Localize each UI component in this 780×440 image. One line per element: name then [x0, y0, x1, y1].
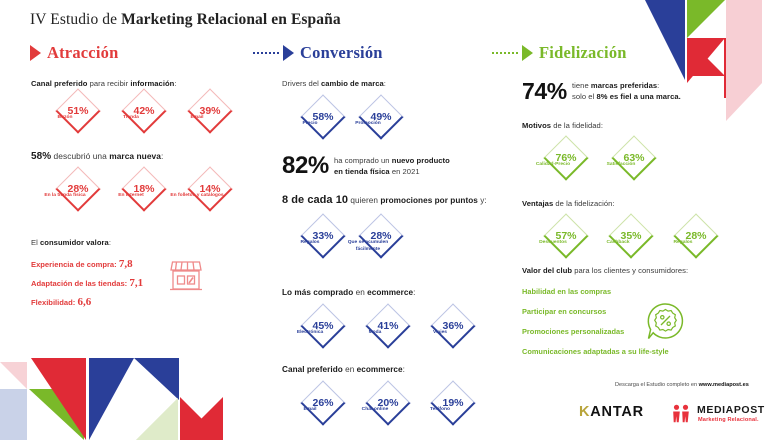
stat-diamond: 14% En folletos y catálogos [187, 166, 233, 212]
loyalty-stat1-number: 74% [522, 78, 567, 105]
t: : [109, 238, 111, 247]
diamond-caption: Regalos [657, 240, 709, 247]
section-header-loyalty: Fidelización [522, 43, 627, 63]
rating-row: Flexibilidad: 6,6 [31, 296, 91, 308]
deco-blue-bottom-lower [89, 358, 134, 440]
diamond-caption: Regalos [284, 240, 336, 247]
section-label-loyalty: Fidelización [539, 43, 627, 63]
stat-diamond: 39% Email [187, 88, 233, 134]
mediapost-name: MEDIAPOST [697, 404, 765, 416]
section-header-attraction: Atracción [30, 43, 118, 63]
diamond-value: 41% [365, 303, 411, 349]
rating-label: Experiencia de compra: [31, 260, 117, 269]
stat-diamond: 28% Que se acumulen fácilmente [358, 213, 404, 259]
diamond-value: 42% [121, 88, 167, 134]
diamond-caption: Viajes [414, 330, 466, 337]
t: Ventajas [522, 199, 553, 208]
footer-download-text: Descarga el Estudio completo en www.medi… [615, 382, 749, 388]
t: : [403, 365, 405, 374]
diamond-value: 28% [673, 213, 719, 259]
diamond-value: 39% [187, 88, 233, 134]
conversion-block1-text: Drivers del cambio de marca: [282, 79, 386, 88]
storefront-icon [166, 258, 206, 296]
t: Lo más comprado [282, 288, 353, 297]
stat-diamond: 45% Electrónica [300, 303, 346, 349]
diamond-value: 76% [543, 135, 589, 181]
stat-diamond: 33% Regalos [300, 213, 346, 259]
rating-row: Experiencia de compra: 7,8 [31, 258, 133, 270]
diamond-caption: Email [171, 115, 223, 122]
deco-pink-triangle [726, 83, 762, 121]
diamond-value: 45% [300, 303, 346, 349]
rating-score: 7,8 [119, 258, 133, 270]
diamond-value: 49% [358, 94, 404, 140]
t: : [174, 79, 176, 88]
page-title-bold: Marketing Relacional en España [121, 11, 341, 28]
t: en tienda física [334, 167, 390, 176]
conversion-block2-text: Lo más comprado en ecommerce: [282, 288, 415, 297]
conversion-stat2-text: 8 de cada 10 quieren promociones por pun… [282, 194, 487, 206]
diamond-caption: Satisfacción [593, 162, 649, 169]
conversion-stat1-number: 82% [282, 152, 329, 180]
diamond-caption: Cashback [592, 240, 644, 247]
stat-diamond: 28% Regalos [673, 213, 719, 259]
t: para recibir [87, 79, 130, 88]
t: Canal preferido [31, 79, 87, 88]
diamond-caption: Teléfono [414, 407, 466, 414]
t: : [161, 151, 163, 161]
t: El [31, 238, 40, 247]
diamond-caption: En la tienda física [32, 193, 98, 200]
diamond-caption: Tienda [105, 115, 157, 122]
t: quieren [348, 196, 380, 205]
stat-diamond: 58% Precio [300, 94, 346, 140]
t: y: [478, 196, 487, 205]
t: en [353, 288, 367, 297]
t: en [343, 365, 357, 374]
dots-connector-2 [492, 52, 518, 54]
t: solo el [572, 92, 596, 101]
t: Descarga el Estudio completo en [615, 382, 699, 388]
section-label-conversion: Conversión [300, 43, 383, 63]
stat-diamond: 49% Promoción [358, 94, 404, 140]
t: 8% es fiel a una marca. [596, 92, 680, 101]
loyalty-block3-text: Valor del club para los clientes y consu… [522, 266, 688, 275]
mediapost-tagline: Marketing Relacional. [698, 417, 759, 423]
diamond-caption: En Internet [98, 193, 164, 200]
t: Motivos [522, 121, 551, 130]
conversion-block3-text: Canal preferido en ecommerce: [282, 365, 405, 374]
percent-bubble-icon [643, 298, 689, 344]
dots-connector-1 [253, 52, 279, 54]
loyalty-stat1-line2: solo el 8% es fiel a una marca. [572, 92, 681, 101]
loyalty-bullet: Participar en concursos [522, 307, 606, 316]
loyalty-bullet: Comunicaciones adaptadas a su life-style [522, 347, 669, 356]
t: de la fidelización: [553, 199, 614, 208]
t: : [413, 288, 415, 297]
play-arrow-icon [522, 45, 533, 61]
diamond-caption: Email [284, 407, 336, 414]
t: cambio de marca [321, 79, 384, 88]
diamond-value: 26% [300, 380, 346, 426]
deco-red-triangle-lower [687, 38, 725, 83]
t: información [130, 79, 174, 88]
play-arrow-icon [283, 45, 294, 61]
deco-red-band [724, 38, 726, 98]
kantar-logo-rest: ANTAR [590, 404, 644, 420]
deco-blue-bottom-right [134, 358, 179, 400]
stat-diamond: 41% Moda [365, 303, 411, 349]
attraction-block2-text: 58% descubrió una marca nueva: [31, 151, 163, 162]
deco-blue-triangle [645, 0, 685, 80]
t: consumidor valora [40, 238, 109, 247]
stat-diamond: 57% Descuentos [543, 213, 589, 259]
t: tiene [572, 81, 591, 90]
stat-diamond: 20% Chat online [365, 380, 411, 426]
conversion-stat1-line1: ha comprado un nuevo producto [334, 156, 450, 165]
deco-pale-pink-triangle [0, 362, 27, 389]
diamond-caption: En folletos y catálogos [167, 193, 227, 200]
diamond-caption: Moda [349, 330, 401, 337]
diamond-caption: Descuentos [527, 240, 579, 247]
kantar-logo-k: K [579, 404, 590, 420]
t: Drivers del [282, 79, 321, 88]
stat-diamond: 36% Viajes [430, 303, 476, 349]
t: nuevo producto [392, 156, 450, 165]
stat-diamond: 51% Buzón [55, 88, 101, 134]
stat-diamond: 26% Email [300, 380, 346, 426]
rating-label: Adaptación de las tiendas: [31, 279, 127, 288]
diamond-caption: Buzón [39, 115, 91, 122]
stat-diamond: 35% Cashback [608, 213, 654, 259]
kantar-logo: KANTAR [579, 404, 644, 420]
t: 8 de cada 10 [282, 194, 348, 206]
diamond-value: 20% [365, 380, 411, 426]
diamond-value: 19% [430, 380, 476, 426]
diamond-value: 33% [300, 213, 346, 259]
t: Valor del club [522, 266, 572, 275]
stat-diamond: 42% Tienda [121, 88, 167, 134]
loyalty-block1-text: Motivos de la fidelidad: [522, 121, 603, 130]
stat-diamond: 18% En Internet [121, 166, 167, 212]
diamond-value: 57% [543, 213, 589, 259]
loyalty-stat1-line1: tiene marcas preferidas: [572, 81, 659, 90]
diamond-value: 35% [608, 213, 654, 259]
diamond-value: 18% [121, 166, 167, 212]
t: 58% [31, 151, 51, 162]
section-header-conversion: Conversión [283, 43, 383, 63]
stat-diamond: 19% Teléfono [430, 380, 476, 426]
deco-red-left-lower [31, 358, 86, 440]
stat-diamond: 28% En la tienda física [55, 166, 101, 212]
deco-green-triangle [687, 0, 725, 38]
diamond-value: 63% [611, 135, 657, 181]
t: Canal preferido [282, 365, 343, 374]
t: descubrió una [51, 151, 109, 161]
footer-website-link[interactable]: www.mediapost.es [699, 382, 749, 388]
stat-diamond: 76% Calidad-Precio [543, 135, 589, 181]
t: promociones por puntos [380, 196, 478, 205]
attraction-block1-text: Canal preferido para recibir información… [31, 79, 177, 88]
t: : [384, 79, 386, 88]
page-title: IV Estudio de Marketing Relacional en Es… [30, 11, 341, 29]
rating-row: Adaptación de las tiendas: 7,1 [31, 277, 143, 289]
page-title-plain: IV Estudio de [30, 11, 121, 28]
t: ha comprado un [334, 156, 392, 165]
t: marca nueva [109, 151, 161, 161]
diamond-caption: Que se acumulen fácilmente [345, 240, 391, 253]
diamond-caption: Chat online [349, 407, 401, 414]
diamond-value: 28% [55, 166, 101, 212]
loyalty-bullet: Habilidad en las compras [522, 287, 611, 296]
deco-pink-band [726, 0, 762, 83]
diamond-value: 51% [55, 88, 101, 134]
t: de la fidelidad: [551, 121, 603, 130]
diamond-caption: Electrónica [284, 330, 336, 337]
t: en 2021 [390, 167, 420, 176]
stat-diamond: 63% Satisfacción [611, 135, 657, 181]
diamond-caption: Precio [284, 121, 336, 128]
rating-score: 6,6 [77, 296, 91, 308]
loyalty-block2-text: Ventajas de la fidelización: [522, 199, 615, 208]
conversion-stat1-line2: en tienda física en 2021 [334, 167, 420, 176]
diamond-value: 14% [187, 166, 233, 212]
infographic-page: IV Estudio de Marketing Relacional en Es… [0, 0, 780, 440]
diamond-caption: Promoción [342, 121, 394, 128]
t: marcas preferidas [591, 81, 657, 90]
t: para los clientes y consumidores: [572, 266, 688, 275]
attraction-block3-text: El consumidor valora: [31, 238, 111, 247]
diamond-value: 58% [300, 94, 346, 140]
rating-score: 7,1 [129, 277, 143, 289]
play-arrow-icon [30, 45, 41, 61]
t: : [657, 81, 659, 90]
t: ecommerce [367, 288, 413, 297]
diamond-caption: Calidad-Precio [525, 162, 581, 169]
loyalty-bullet: Promociones personalizadas [522, 327, 624, 336]
rating-label: Flexibilidad: [31, 298, 75, 307]
deco-pale-blue-block [0, 389, 27, 440]
mediapost-people-icon [671, 404, 693, 424]
section-label-attraction: Atracción [47, 43, 118, 63]
diamond-value: 36% [430, 303, 476, 349]
t: ecommerce [357, 365, 403, 374]
